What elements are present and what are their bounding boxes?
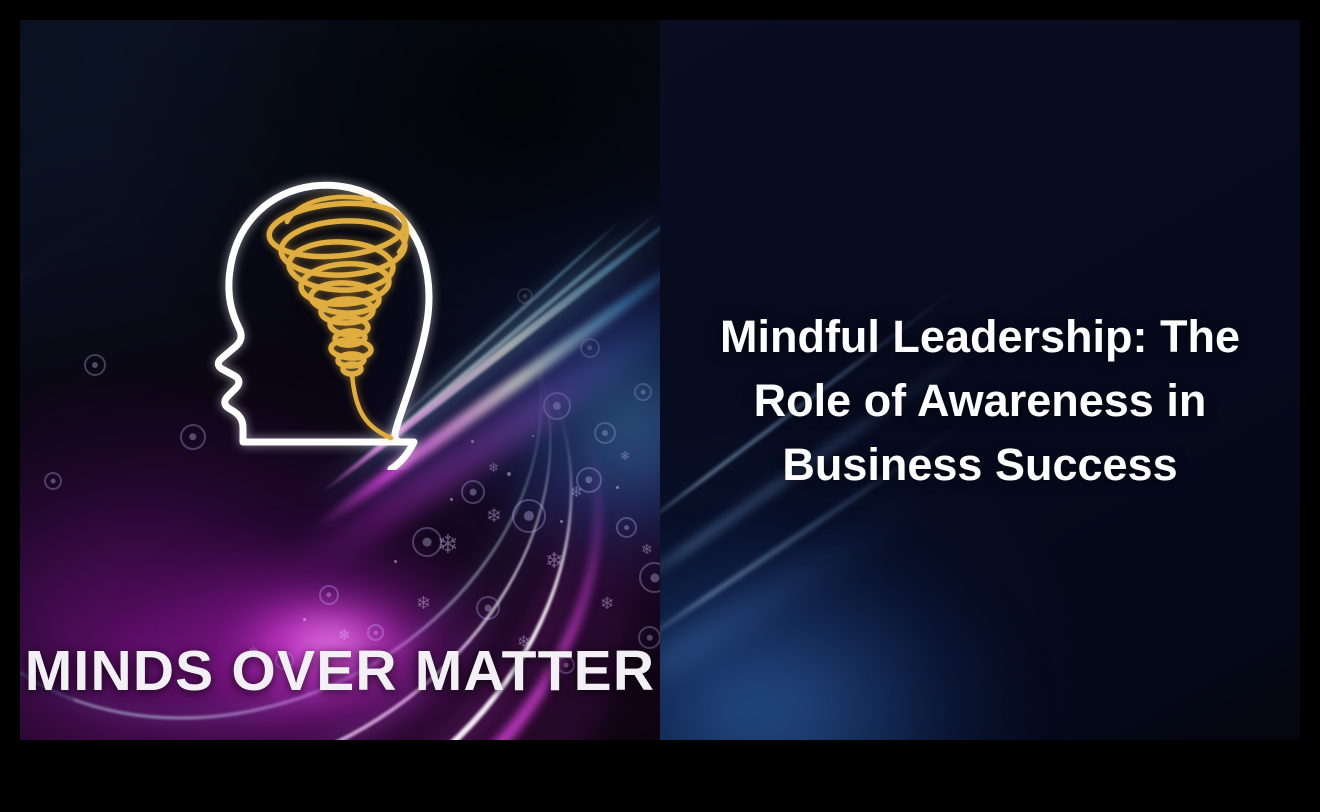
sparkle-flower-icon: ❄ <box>416 594 431 612</box>
title-panel: Mindful Leadership: The Role of Awarenes… <box>660 20 1300 740</box>
sparkle-speck <box>450 498 453 501</box>
sparkle-speck <box>532 435 534 437</box>
slide-canvas: ❄ ❄ ❄ ❄ ❄ ❄ ❄ ❄ ❄ ❄ ❄ ❄ <box>0 0 1320 812</box>
beam-diffuse <box>283 288 660 589</box>
sparkle-flower-icon: ❄ <box>486 507 502 526</box>
bokeh-ring <box>634 383 652 401</box>
bokeh-ring <box>616 517 637 538</box>
sparkle-flower-icon: ❄ <box>570 485 583 500</box>
sparkle-flower-icon: ❄ <box>600 595 614 612</box>
sparkle-speck <box>394 560 397 563</box>
bokeh-ring <box>476 596 500 620</box>
bokeh-ring <box>319 585 339 605</box>
sparkle-flower-icon: ❄ <box>488 461 499 474</box>
sparkle-speck <box>616 486 619 489</box>
sparkle-flower-icon: ❄ <box>620 450 630 462</box>
beam-broad <box>306 250 660 538</box>
brand-wordmark: MINDS OVER MATTER <box>20 638 660 704</box>
sparkle-flower-icon: ❄ <box>641 542 653 556</box>
bokeh-ring <box>44 472 62 490</box>
streak-diffuse <box>660 489 932 730</box>
page-title-line: Mindful Leadership: The <box>686 305 1274 369</box>
bokeh-ring <box>639 562 660 593</box>
bokeh-ring <box>576 467 602 493</box>
bokeh-ring <box>180 424 206 450</box>
sparkle-flower-icon: ❄ <box>437 531 459 557</box>
page-title-line: Role of Awareness in <box>686 369 1274 433</box>
page-title: Mindful Leadership: The Role of Awarenes… <box>686 305 1274 497</box>
bokeh-ring <box>412 527 442 557</box>
bokeh-ring <box>461 480 485 504</box>
title-panel-glow <box>660 540 1020 740</box>
sparkle-speck <box>507 472 511 476</box>
head-profile-with-thought-spiral-icon <box>195 170 465 470</box>
page-title-line: Business Success <box>686 433 1274 497</box>
sparkle-flower-icon: ❄ <box>545 550 563 572</box>
brand-panel: ❄ ❄ ❄ ❄ ❄ ❄ ❄ ❄ ❄ ❄ ❄ ❄ <box>20 20 660 740</box>
sparkle-speck <box>303 618 306 621</box>
bokeh-ring <box>594 422 616 444</box>
sparkle-speck <box>560 520 563 523</box>
bokeh-ring <box>512 499 546 533</box>
bokeh-ring <box>84 354 106 376</box>
